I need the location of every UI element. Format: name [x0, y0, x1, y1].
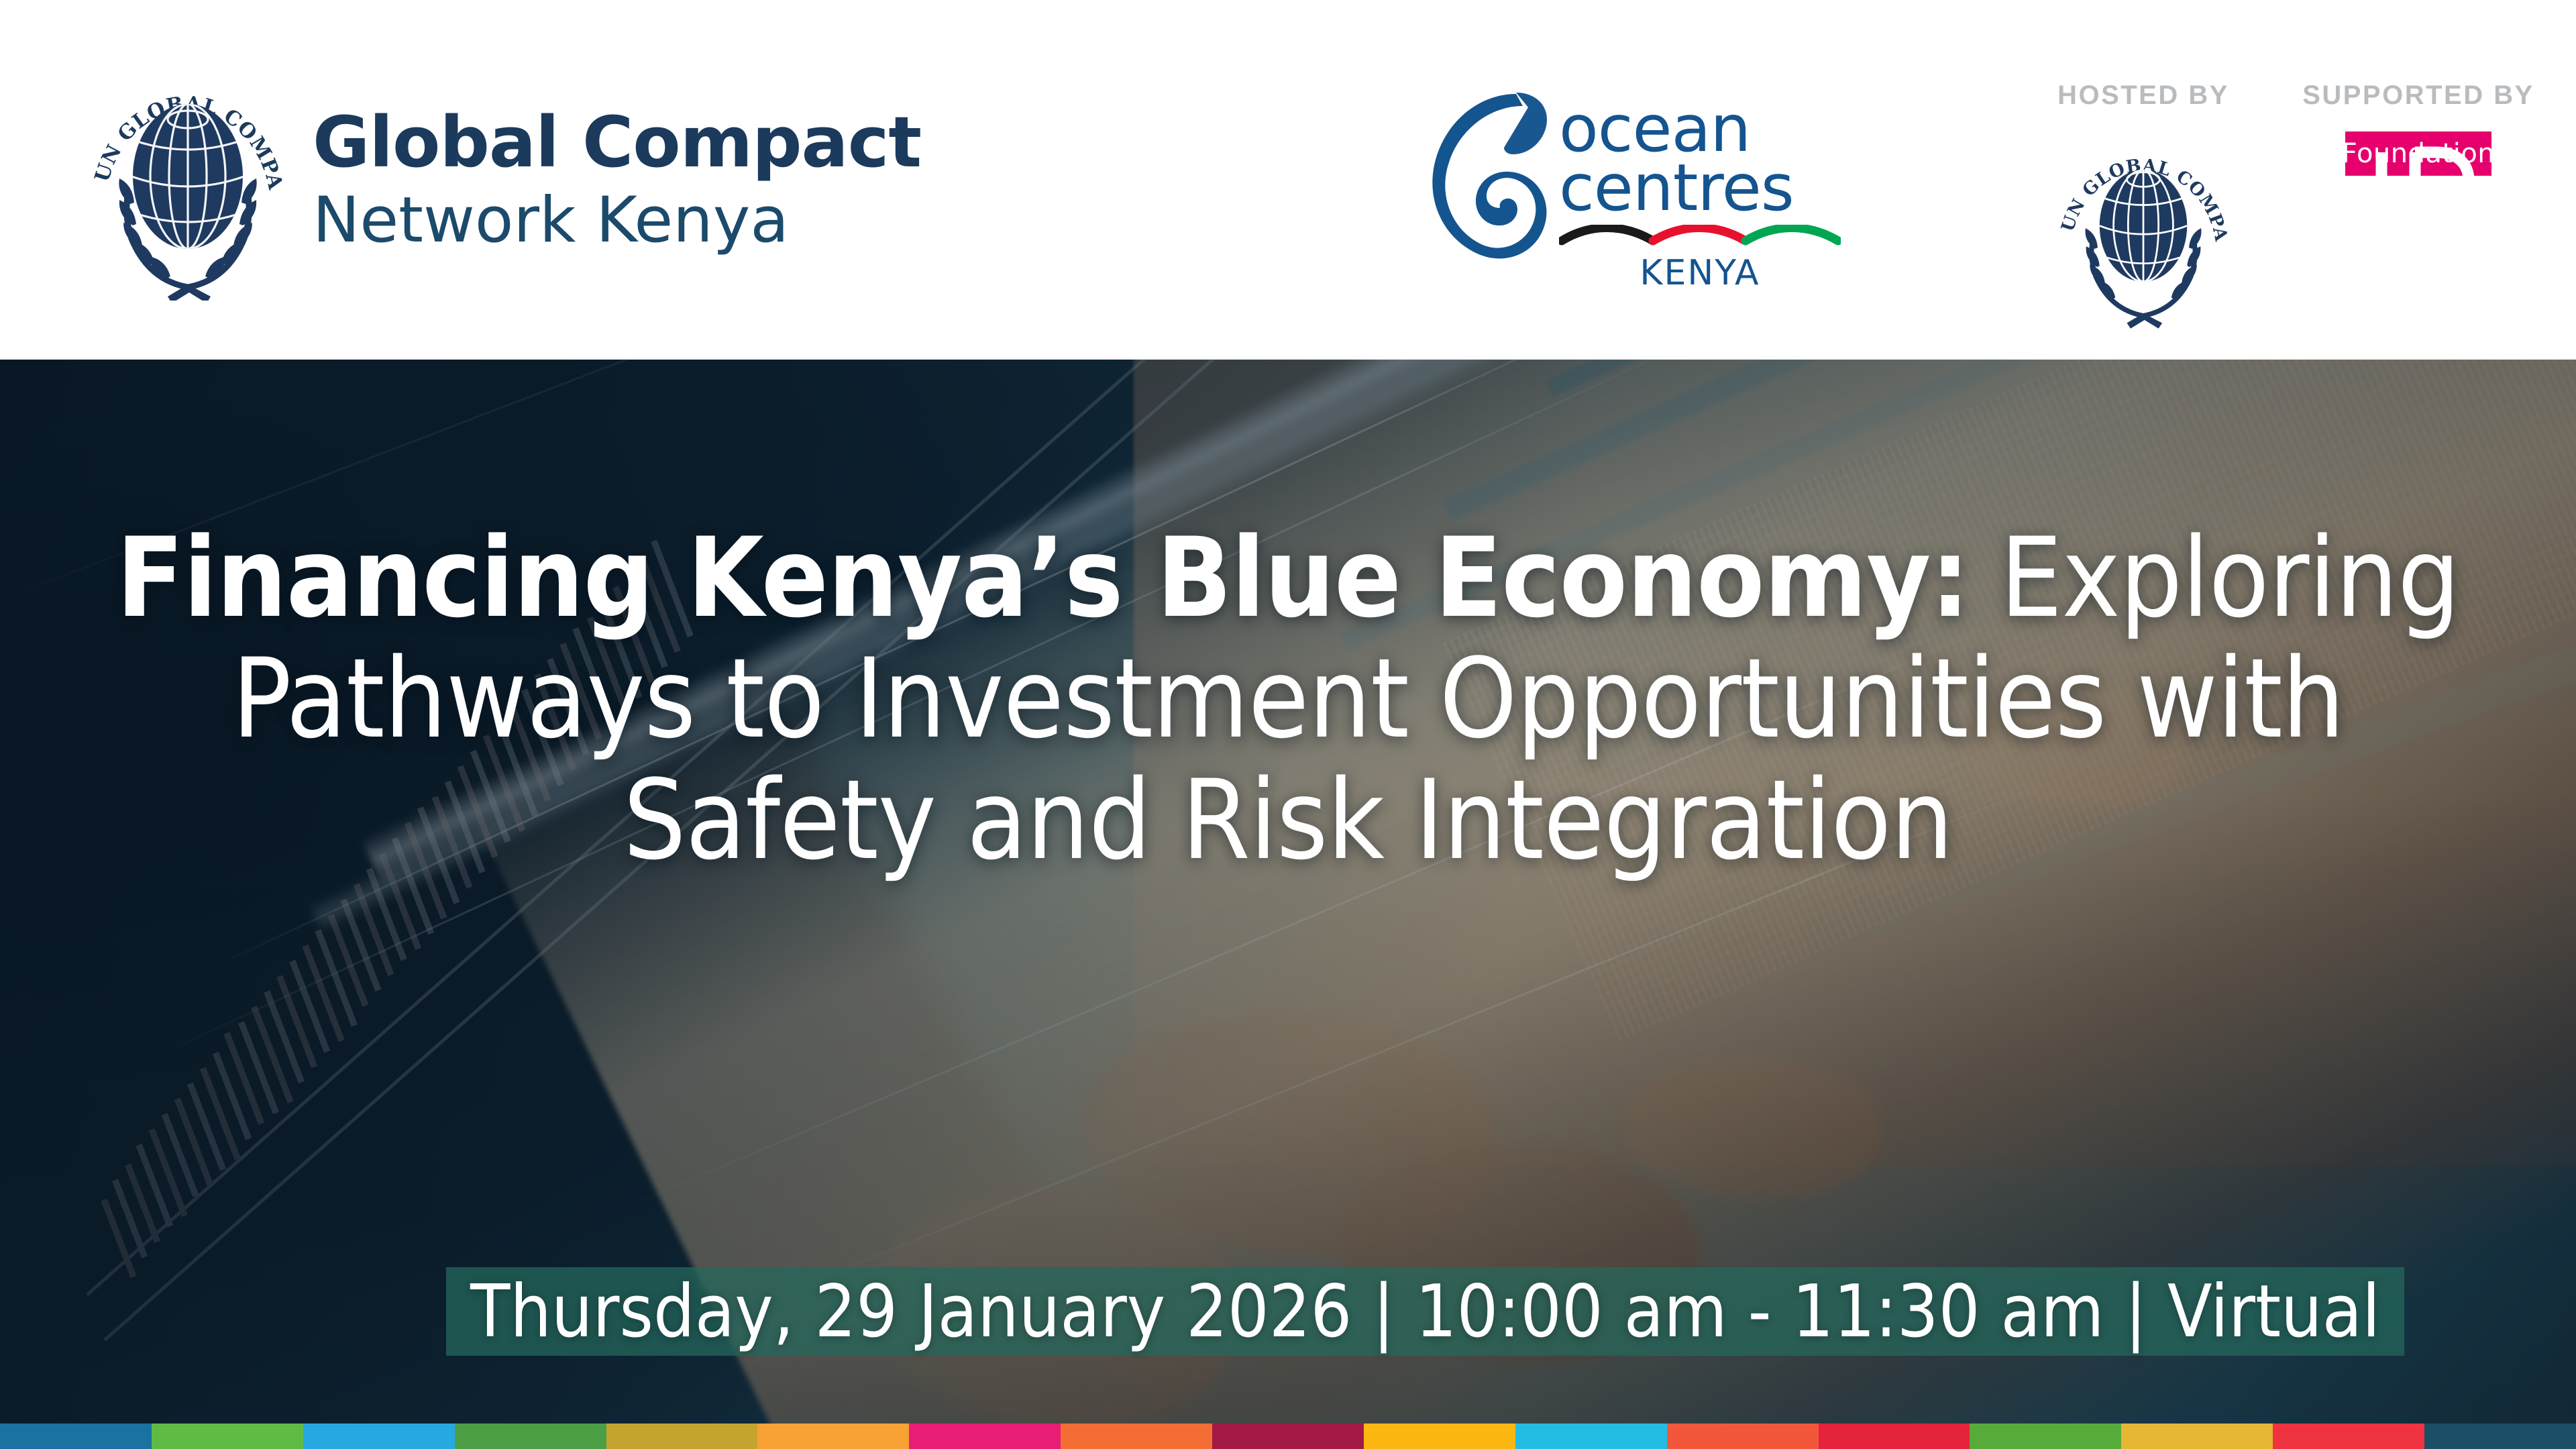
sdg-stripe-segment-5	[606, 1424, 758, 1449]
brand-global-compact-network-kenya[interactable]: UN GLOBAL COMPACT	[87, 59, 921, 301]
hero-section: Financing Kenya’s Blue Economy: Explorin…	[0, 360, 2576, 1449]
supported-by-label: SUPPORTED BY	[2302, 80, 2534, 111]
brand-line-2: Network Kenya	[313, 189, 921, 252]
sdg-stripe-segment-10	[1364, 1424, 1515, 1449]
sdg-stripe-segment-12	[1667, 1424, 1819, 1449]
sdg-stripe-segment-7	[909, 1424, 1061, 1449]
sdg-stripe-segment-15	[2121, 1424, 2273, 1449]
event-promo-banner: UN GLOBAL COMPACT	[0, 0, 2576, 1449]
sdg-stripe-segment-13	[1819, 1424, 1970, 1449]
ocean-centres-spiral-icon	[1415, 82, 1550, 276]
sdg-stripe-segment-14	[1970, 1424, 2121, 1449]
hosted-by-label: HOSTED BY	[2057, 80, 2229, 111]
brand-ocean-centres-kenya[interactable]: ocean centres KENYA	[1415, 82, 1841, 293]
ocean-word-2: centres	[1559, 158, 1841, 217]
sdg-stripe-segment-4	[455, 1424, 606, 1449]
sdg-stripe-segment-6	[757, 1424, 909, 1449]
sdg-stripe-segment-9	[1212, 1424, 1364, 1449]
lr-foundation-logo-icon: Foundation	[2345, 128, 2491, 176]
sdg-stripe-segment-8	[1061, 1424, 1212, 1449]
page-title: Financing Kenya’s Blue Economy: Explorin…	[0, 518, 2576, 881]
event-details-banner: Thursday, 29 January 2026 | 10:00 am - 1…	[446, 1267, 2404, 1356]
credit-hosted-by: HOSTED BY UN GLOBAL COMPACT	[2026, 80, 2261, 333]
un-global-compact-emblem-icon: UN GLOBAL COMPACT	[2052, 128, 2235, 333]
kenya-flag-wave-icon	[1559, 225, 1841, 249]
sdg-color-stripe	[0, 1424, 2576, 1449]
sdg-stripe-segment-11	[1515, 1424, 1667, 1449]
sdg-stripe-segment-2	[152, 1424, 303, 1449]
event-details-text: Thursday, 29 January 2026 | 10:00 am - 1…	[470, 1270, 2380, 1354]
sdg-stripe-segment-17	[2424, 1424, 2576, 1449]
sdg-stripe-segment-1	[0, 1424, 152, 1449]
ocean-country-label: KENYA	[1559, 253, 1841, 293]
un-global-compact-emblem-icon: UN GLOBAL COMPACT	[87, 59, 288, 301]
sdg-stripe-segment-3	[303, 1424, 455, 1449]
headline-bold: Financing Kenya’s Blue Economy:	[116, 514, 1969, 642]
ocean-word-1: ocean	[1559, 99, 1841, 158]
sdg-stripe-segment-16	[2273, 1424, 2424, 1449]
credit-supported-by: SUPPORTED BY Foundatio	[2301, 80, 2536, 176]
brand-line-1: Global Compact	[313, 107, 921, 177]
header-bar: UN GLOBAL COMPACT	[0, 0, 2576, 360]
